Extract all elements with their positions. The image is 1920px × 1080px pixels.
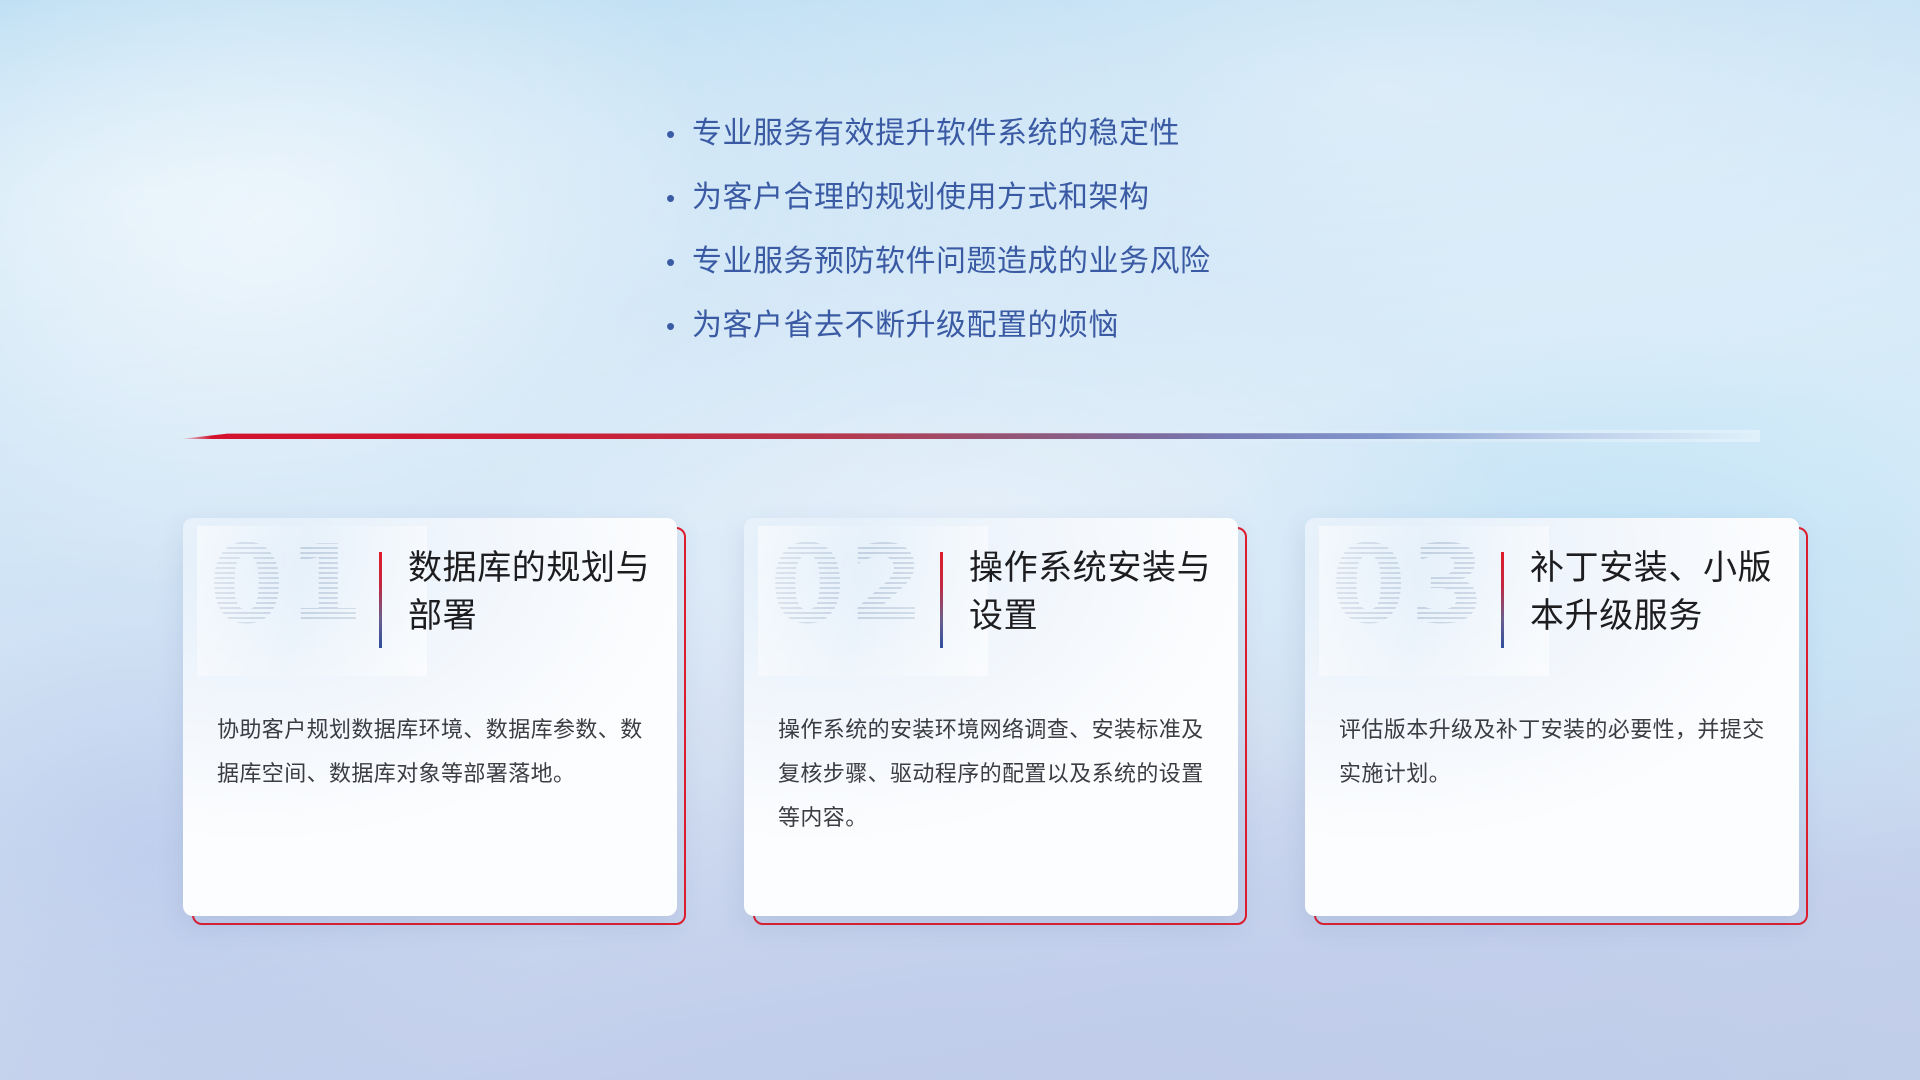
benefits-bullet-list: • 专业服务有效提升软件系统的稳定性 • 为客户合理的规划使用方式和架构 • 专… [666, 108, 1446, 364]
card-header: 03 补丁安装、小版本升级服务 [1305, 518, 1799, 686]
service-card-02[interactable]: 02 操作系统安装与设置 操作系统的安装环境网络调查、安装标准及复核步骤、驱动程… [744, 518, 1238, 916]
card-number-watermark: 03 [1331, 532, 1489, 640]
slide-canvas: • 专业服务有效提升软件系统的稳定性 • 为客户合理的规划使用方式和架构 • 专… [0, 0, 1920, 1080]
card-title-accent-bar [379, 552, 382, 648]
bullet-marker-icon: • [666, 185, 692, 211]
list-item: • 专业服务预防软件问题造成的业务风险 [666, 236, 1446, 300]
service-card-list: 01 数据库的规划与部署 协助客户规划数据库环境、数据库参数、数据库空间、数据库… [183, 518, 1799, 916]
card-surface: 02 操作系统安装与设置 操作系统的安装环境网络调查、安装标准及复核步骤、驱动程… [744, 518, 1238, 916]
card-number-watermark: 01 [209, 532, 367, 640]
bullet-text: 为客户省去不断升级配置的烦恼 [692, 300, 1119, 344]
card-title-accent-bar [940, 552, 943, 648]
list-item: • 为客户合理的规划使用方式和架构 [666, 172, 1446, 236]
divider-gradient-line [180, 433, 1760, 439]
card-title: 补丁安装、小版本升级服务 [1530, 544, 1780, 641]
card-surface: 01 数据库的规划与部署 协助客户规划数据库环境、数据库参数、数据库空间、数据库… [183, 518, 677, 916]
bullet-text: 专业服务预防软件问题造成的业务风险 [692, 236, 1211, 280]
card-header: 02 操作系统安装与设置 [744, 518, 1238, 686]
bullet-marker-icon: • [666, 249, 692, 275]
bullet-text: 专业服务有效提升软件系统的稳定性 [692, 108, 1180, 152]
section-divider [180, 430, 1760, 442]
service-card-03[interactable]: 03 补丁安装、小版本升级服务 评估版本升级及补丁安装的必要性，并提交实施计划。 [1305, 518, 1799, 916]
card-title-accent-bar [1501, 552, 1504, 648]
bullet-text: 为客户合理的规划使用方式和架构 [692, 172, 1150, 216]
service-card-01[interactable]: 01 数据库的规划与部署 协助客户规划数据库环境、数据库参数、数据库空间、数据库… [183, 518, 677, 916]
card-description: 协助客户规划数据库环境、数据库参数、数据库空间、数据库对象等部署落地。 [217, 708, 651, 796]
list-item: • 为客户省去不断升级配置的烦恼 [666, 300, 1446, 364]
card-header: 01 数据库的规划与部署 [183, 518, 677, 686]
card-description: 评估版本升级及补丁安装的必要性，并提交实施计划。 [1339, 708, 1773, 796]
card-title-group: 操作系统安装与设置 [940, 544, 1219, 648]
card-title-group: 补丁安装、小版本升级服务 [1501, 544, 1780, 648]
card-title: 数据库的规划与部署 [408, 544, 658, 641]
bullet-marker-icon: • [666, 313, 692, 339]
card-title: 操作系统安装与设置 [969, 544, 1219, 641]
bullet-marker-icon: • [666, 121, 692, 147]
card-surface: 03 补丁安装、小版本升级服务 评估版本升级及补丁安装的必要性，并提交实施计划。 [1305, 518, 1799, 916]
list-item: • 专业服务有效提升软件系统的稳定性 [666, 108, 1446, 172]
card-number-watermark: 02 [770, 532, 928, 640]
card-description: 操作系统的安装环境网络调查、安装标准及复核步骤、驱动程序的配置以及系统的设置等内… [778, 708, 1212, 840]
card-title-group: 数据库的规划与部署 [379, 544, 658, 648]
